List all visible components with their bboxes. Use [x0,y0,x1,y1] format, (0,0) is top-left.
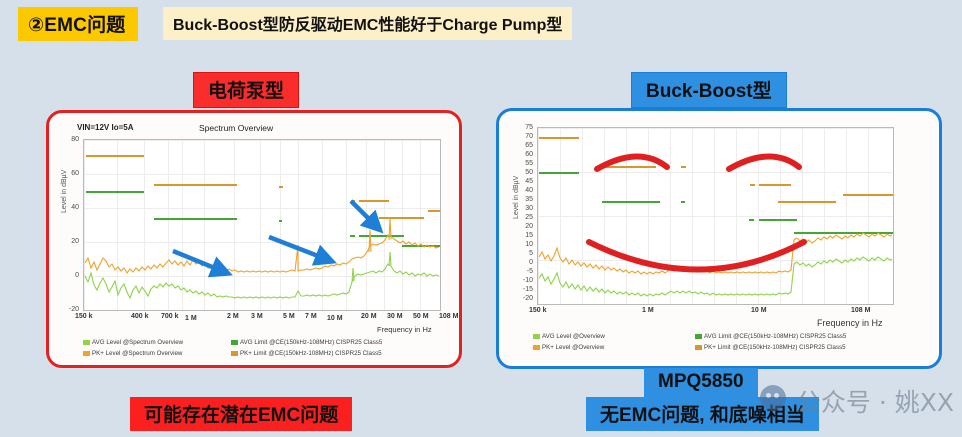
x-tick-label: 700 k [161,313,179,320]
y-tick-label: 40 [517,187,533,194]
charge-pump-panel: VIN=12V Io=5A Spectrum Overview Level in… [46,110,462,368]
y-tick-label: 0 [517,259,533,266]
y-tick-label: 75 [517,124,533,131]
header-bar: ②EMC问题 Buck-Boost型防反驱动EMC性能好于Charge Pump… [0,0,962,44]
y-tick-label: 60 [63,170,79,177]
x-tick-label: 5 M [283,313,295,320]
y-tick-label: 30 [517,205,533,212]
x-tick-label: 108 M [851,307,870,314]
chart-condition-label: VIN=12V Io=5A [77,123,133,132]
x-tick-label: 1 M [185,315,197,322]
spectrum-traces [84,140,440,310]
watermark-text: 公众号 · 姚XX [796,383,954,419]
y-tick-label: 40 [63,204,79,211]
y-tick-label: -20 [514,295,533,302]
y-tick-label: 0 [63,272,79,279]
spectrum-traces [538,128,893,304]
y-tick-label: 15 [517,232,533,239]
legend-swatch-pk-level [83,351,90,356]
plot-area [83,139,441,311]
charge-pump-plot: VIN=12V Io=5A Spectrum Overview Level in… [49,113,459,365]
y-tick-label: 35 [517,196,533,203]
x-tick-label: 400 k [131,313,149,320]
y-tick-label: -20 [60,306,79,313]
chart-title: Spectrum Overview [199,123,273,133]
buck-boost-panel: Level in dBµV 75 70 65 60 55 50 45 40 35… [496,108,942,369]
legend-label: AVG Level @Spectrum Overview [92,339,183,346]
x-tick-label: 150 k [529,307,547,314]
y-tick-label: 10 [517,241,533,248]
x-tick-label: 20 M [361,313,377,320]
legend-item-avg-level: AVG Level @Overview [533,333,605,340]
y-tick-label: 25 [517,214,533,221]
legend-label: AVG Limit @CE(150kHz-108MHz) CISPR25 Cla… [704,333,846,340]
x-tick-label: 2 M [227,313,239,320]
legend-item-avg-level: AVG Level @Spectrum Overview [83,339,183,346]
plot-area [537,127,894,305]
x-tick-label: 3 M [251,313,263,320]
part-number-chip: MPQ5850 [644,368,758,397]
left-panel-title-chip: 电荷泵型 [193,72,299,108]
y-tick-label: 5 [517,250,533,257]
legend-swatch-pk-level [533,345,540,350]
x-tick-label: 108 M [439,313,458,320]
y-tick-label: 20 [517,223,533,230]
legend-swatch-avg-level [533,334,540,339]
legend-swatch-pk-limit [695,345,702,350]
x-tick-label: 10 M [751,307,767,314]
legend-swatch-pk-limit [231,351,238,356]
left-conclusion-chip: 可能存在潜在EMC问题 [130,397,352,431]
y-tick-label: 50 [517,169,533,176]
x-tick-label: 50 M [413,313,429,320]
legend-item-pk-level: PK+ Level @Overview [533,344,604,351]
y-tick-label: -5 [514,268,533,275]
legend-label: PK+ Level @Spectrum Overview [92,350,182,357]
x-axis-label: Frequency in Hz [377,325,432,334]
legend-label: PK+ Limit @CE(150kHz-108MHz) CISPR25 Cla… [704,344,846,351]
x-tick-label: 7 M [305,313,317,320]
y-tick-label: 20 [63,238,79,245]
legend-label: PK+ Level @Overview [542,344,604,351]
buck-boost-plot: Level in dBµV 75 70 65 60 55 50 45 40 35… [499,111,939,366]
y-tick-label: 60 [517,151,533,158]
y-tick-label: -10 [514,277,533,284]
legend-label: PK+ Limit @CE(150kHz-108MHz) CISPR25 Cla… [240,350,382,357]
x-tick-label: 30 M [387,313,403,320]
legend-item-avg-limit: AVG Limit @CE(150kHz-108MHz) CISPR25 Cla… [231,339,382,346]
legend-swatch-avg-limit [695,334,702,339]
watermark-logo-icon [760,385,786,411]
legend-label: AVG Level @Overview [542,333,605,340]
y-tick-label: 45 [517,178,533,185]
legend-item-avg-limit: AVG Limit @CE(150kHz-108MHz) CISPR25 Cla… [695,333,846,340]
y-tick-label: 65 [517,142,533,149]
x-tick-label: 10 M [327,315,343,322]
legend-label: AVG Limit @CE(150kHz-108MHz) CISPR25 Cla… [240,339,382,346]
y-tick-label: -15 [514,286,533,293]
legend-swatch-avg-limit [231,340,238,345]
y-tick-label: 80 [63,136,79,143]
legend-item-pk-limit: PK+ Limit @CE(150kHz-108MHz) CISPR25 Cla… [695,344,846,351]
y-tick-label: 55 [517,160,533,167]
y-tick-label: 70 [517,133,533,140]
legend-item-pk-level: PK+ Level @Spectrum Overview [83,350,182,357]
right-panel-title-chip: Buck-Boost型 [631,72,787,108]
x-axis-label: Frequency in Hz [817,318,883,328]
legend-swatch-avg-level [83,340,90,345]
legend-item-pk-limit: PK+ Limit @CE(150kHz-108MHz) CISPR25 Cla… [231,350,382,357]
x-tick-label: 150 k [75,313,93,320]
header-subtitle: Buck-Boost型防反驱动EMC性能好于Charge Pump型 [163,7,572,40]
x-tick-label: 1 M [642,307,654,314]
header-badge: ②EMC问题 [18,7,138,41]
